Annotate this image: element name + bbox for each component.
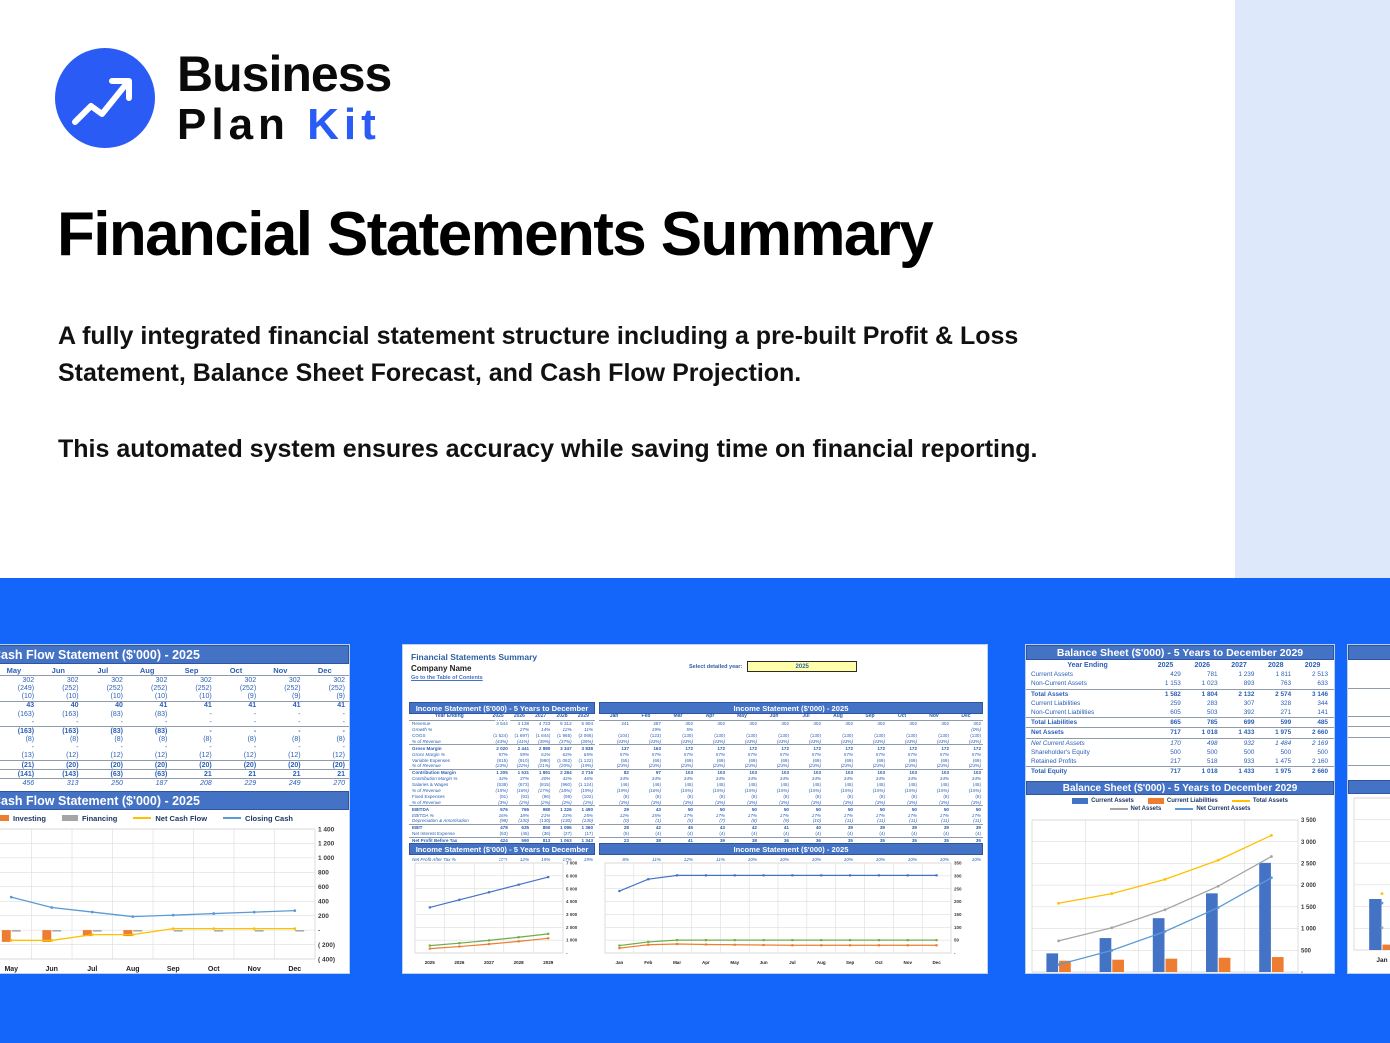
table-cell: - (260, 744, 304, 752)
legend-line-swatch (1110, 808, 1128, 810)
table-cell: (20) (83, 761, 127, 770)
hero-paragraph-2: This automated system ensures accuracy w… (58, 431, 1118, 468)
table-row: Depreciation & Amortisation(98)(130)(130… (409, 818, 595, 824)
table-cell: (83) (83, 710, 127, 718)
legend-item: Net Assets (1110, 806, 1162, 812)
table-cell: (20) (127, 761, 171, 770)
partial-banner-chart (1348, 780, 1390, 794)
table-cell: (21) (0, 761, 38, 770)
table-cell: - (305, 718, 349, 727)
row-label: Non-Current Assets (1026, 679, 1150, 689)
table-cell: 21 (171, 770, 215, 779)
legend-bar-swatch (62, 815, 78, 821)
table-cell: (20) (38, 761, 82, 770)
table-cell: 692 (1348, 707, 1390, 717)
table-cell: 1 433 (1224, 728, 1261, 738)
table-row: Contribution Margin1 2051 5311 8912 2842… (409, 770, 595, 776)
svg-text:350: 350 (954, 861, 962, 866)
table-cell: (63) (127, 770, 171, 779)
table-row: Net Current Assets1704989321 4842 169 (1026, 738, 1334, 748)
svg-text:250: 250 (954, 886, 962, 891)
table-cell: (12) (38, 752, 82, 761)
table-row: 93 (1348, 698, 1390, 707)
svg-text:Oct: Oct (875, 960, 883, 965)
table-cell: 1 153 (1150, 679, 1187, 689)
svg-text:7 000: 7 000 (566, 861, 578, 866)
table-cell: 302 (83, 676, 127, 685)
partial-banner-top (1348, 645, 1390, 660)
table-cell: 456 (0, 779, 38, 788)
svg-text:Jun: Jun (46, 966, 58, 973)
table-cell: - (171, 727, 215, 736)
row-label: Retained Profits (1026, 757, 1150, 767)
svg-text:Feb: Feb (644, 960, 652, 965)
table-row: Current Liabilities259283307328344 (1026, 699, 1334, 708)
table-cell: (12) (83, 752, 127, 761)
table-cell: (10) (0, 693, 38, 702)
income-statement-2025-chart-title: Income Statement ($'000) - 2025 (599, 843, 983, 855)
svg-text:May: May (4, 966, 18, 973)
table-row: Non-Current Assets1 1531 023893763633 (1026, 679, 1334, 689)
table-cell: 1 018 (1187, 728, 1224, 738)
table-cell: 503 (1187, 708, 1224, 718)
row-label: Shareholder's Equity (1026, 748, 1150, 757)
table-cell: 1 023 (1187, 679, 1224, 689)
svg-text:2 500: 2 500 (1301, 862, 1317, 868)
table-cell: 2 132 (1224, 689, 1261, 699)
partial-chart: Jan (1348, 794, 1390, 966)
svg-text:-: - (954, 951, 956, 956)
income-statement-5yr-chart-title: Income Statement ($'000) - 5 Years to De… (409, 843, 595, 855)
table-cell: (8) (305, 736, 349, 744)
table-cell: 500 (1187, 748, 1224, 757)
table-cell: 41 (260, 701, 304, 710)
table-row: Salaries & Wages(538)(673)(815)(960)(1 1… (409, 782, 595, 788)
table-row: % of Revenue(23%)(22%)(21%)(20%)(19%) (409, 763, 595, 769)
table-row: Gross Margin %57%59%61%63%65% (409, 751, 595, 757)
table-cell: 2 660 (1297, 767, 1334, 777)
svg-text:2028: 2028 (514, 960, 525, 965)
table-cell: - (127, 744, 171, 752)
table-cell: 124 (1348, 678, 1390, 688)
svg-text:Nov: Nov (903, 960, 912, 965)
table-header-row: Year Ending20252026202720282029 (1026, 661, 1334, 670)
table-cell: (10) (83, 693, 127, 702)
table-cell: 2 513 (1297, 670, 1334, 679)
table-cell: 313 (38, 779, 82, 788)
svg-text:-: - (566, 951, 568, 956)
svg-text:500: 500 (1301, 949, 1312, 955)
svg-text:1 500: 1 500 (1301, 905, 1317, 911)
svg-text:4 000: 4 000 (566, 899, 578, 904)
column-header: Jun (38, 665, 82, 676)
table-cell: 785 (1187, 718, 1224, 728)
table-cell: (8) (171, 736, 215, 744)
table-cell: 41 (127, 701, 171, 710)
table-cell: 40 (38, 701, 82, 710)
balance-sheet-table-title: Balance Sheet ($'000) - 5 Years to Decem… (1026, 645, 1334, 660)
table-cell: (252) (127, 684, 171, 692)
income-statement-2025-title: Income Statement ($'000) - 2025 (599, 702, 983, 714)
table-cell: - (305, 727, 349, 736)
table-row: % of Revenue(15%)(16%)(17%)(18%)(19%) (409, 788, 595, 794)
table-row: 512 (1348, 727, 1390, 737)
table-cell: 302 (216, 676, 260, 685)
svg-text:Dec: Dec (288, 966, 301, 973)
svg-text:200: 200 (954, 899, 962, 904)
table-cell: 249 (260, 779, 304, 788)
table-row: % of Revenue(43%)(41%)(39%)(37%)(35%) (409, 739, 595, 745)
svg-text:3 000: 3 000 (1301, 840, 1317, 846)
svg-text:Nov: Nov (248, 966, 261, 973)
legend-line-swatch (1232, 800, 1250, 802)
svg-text:Jul: Jul (789, 960, 796, 965)
legend-item: Investing (0, 814, 46, 823)
column-header: 2025 (1150, 661, 1187, 670)
table-cell: (8) (216, 736, 260, 744)
column-header: Jul (83, 665, 127, 676)
balance-sheet-chart-title: Balance Sheet ($'000) - 5 Years to Decem… (1026, 781, 1334, 795)
table-cell: 302 (260, 676, 304, 685)
table-cell: 250 (83, 779, 127, 788)
table-row: Gross Margin2 0202 4412 8803 3473 838 (409, 745, 595, 751)
svg-text:3 000: 3 000 (566, 912, 578, 917)
table-cell: 1 174 (1348, 669, 1390, 678)
table-cell: 500 (1297, 748, 1334, 757)
table-row: Net Interest Expense(53)(45)(36)(27)(17) (409, 831, 595, 837)
screenshot-financial-statements-summary[interactable]: Financial Statements Summary Company Nam… (402, 644, 988, 974)
cash-flow-chart-title: Cash Flow Statement ($'000) - 2025 (0, 791, 349, 810)
table-cell: - (260, 710, 304, 718)
table-cell: 270 (305, 779, 349, 788)
hero-paragraph-1: A fully integrated financial statement s… (58, 318, 1148, 392)
svg-text:Mar: Mar (673, 960, 681, 965)
column-header: Aug (127, 665, 171, 676)
table-cell: (12) (171, 752, 215, 761)
column-header: Sep (171, 665, 215, 676)
table-row: Current Assets4297811 2391 8112 513 (1026, 670, 1334, 679)
svg-text:May: May (730, 960, 739, 965)
table-cell: (252) (83, 684, 127, 692)
svg-text:Aug: Aug (126, 966, 140, 973)
table-row: (13)(12)(12)(12)(12)(12)(12)(12) (0, 752, 349, 761)
table-cell: 485 (1297, 718, 1334, 728)
row-label: Total Liabilities (1026, 718, 1150, 728)
legend-label: Total Assets (1253, 798, 1288, 804)
table-row: 1 297 (1348, 688, 1390, 698)
brand-logo: Business Plan Kit (55, 48, 391, 148)
table-cell: 271 (1260, 708, 1297, 718)
table-row: Fixed Expenses(91)(93)(96)(99)(102) (409, 794, 595, 800)
svg-text:1 400: 1 400 (318, 826, 335, 833)
table-cell: 259 (1150, 699, 1187, 708)
table-cell: 893 (1224, 679, 1261, 689)
svg-text:Aug: Aug (817, 960, 826, 965)
table-of-contents-link[interactable]: Go to the Table of Contents (411, 675, 987, 681)
table-cell: (12) (305, 752, 349, 761)
table-cell: (13) (0, 752, 38, 761)
table-row: Retained Profits2175189331 4752 160 (1026, 757, 1334, 767)
table-cell: (143) (38, 770, 82, 779)
table-cell: 1 804 (1187, 689, 1224, 699)
table-cell: 500 (1260, 748, 1297, 757)
row-label: Net Current Assets (1026, 738, 1150, 748)
svg-text:( 400): ( 400) (318, 956, 335, 963)
table-row: 124 (1348, 678, 1390, 688)
legend-bar-swatch (0, 815, 9, 821)
table-cell: - (0, 744, 38, 752)
column-header: 2029 (1297, 661, 1334, 670)
table-cell: - (171, 744, 215, 752)
svg-text:5 000: 5 000 (566, 886, 578, 891)
legend-item: Net Current Assets (1175, 806, 1250, 812)
svg-text:2025: 2025 (425, 960, 436, 965)
svg-text:Jan: Jan (616, 960, 624, 965)
table-cell: 763 (1260, 679, 1297, 689)
balance-sheet-chart-legend: Current AssetsCurrent LiabilitiesTotal A… (1026, 795, 1334, 816)
table-cell: 1 081 (1348, 737, 1390, 747)
table-cell: 1 239 (1224, 670, 1261, 679)
table-cell: 781 (1187, 670, 1224, 679)
hero-section: Business Plan Kit Financial Statements S… (0, 0, 1390, 578)
table-row: Net Assets7171 0181 4331 9752 660 (1026, 728, 1334, 738)
table-cell: (10) (38, 693, 82, 702)
table-row: 692 (1348, 707, 1390, 717)
table-row: (10)(10)(10)(10)(10)(9)(9)(9) (0, 693, 349, 702)
column-header: Nov (260, 665, 304, 676)
row-label: Total Assets (1026, 689, 1150, 699)
table-cell: 170 (1150, 738, 1187, 748)
table-cell: 217 (1150, 757, 1187, 767)
column-header: Jan (1348, 660, 1390, 669)
svg-text:6 000: 6 000 (566, 873, 578, 878)
table-cell: 2 169 (1297, 738, 1334, 748)
table-cell: - (0, 718, 38, 727)
table-cell: - (305, 744, 349, 752)
svg-text:1 200: 1 200 (318, 840, 335, 847)
table-row: 4340404141414141 (0, 701, 349, 710)
svg-text:1 000: 1 000 (566, 938, 578, 943)
year-picker[interactable]: Select detailed year: 2025 (689, 661, 857, 672)
table-cell: (9) (260, 693, 304, 702)
table-row: (163)(163)(83)(83)---- (0, 727, 349, 736)
legend-label: Net Cash Flow (155, 814, 207, 823)
table-cell: - (216, 710, 260, 718)
table-row: 500 (1348, 747, 1390, 756)
table-cell: - (260, 727, 304, 736)
income-statement-2025-table: JanFebMarAprMayJunJulAugSepOctNovDec2412… (599, 714, 983, 862)
table-cell: - (260, 718, 304, 727)
table-cell: 933 (1224, 757, 1261, 767)
table-row: 786 (1348, 717, 1390, 727)
table-cell: 500 (1150, 748, 1187, 757)
balance-sheet-table: Year Ending20252026202720282029Current A… (1026, 661, 1334, 776)
table-cell: - (38, 718, 82, 727)
screenshot-balance-sheet[interactable]: Balance Sheet ($'000) - 5 Years to Decem… (1025, 644, 1335, 974)
svg-text:Jan: Jan (1376, 957, 1387, 964)
table-header-row: Year Ending20252026202720282029 (409, 714, 595, 720)
table-cell: (10) (171, 693, 215, 702)
table-cell: - (305, 710, 349, 718)
svg-text:150: 150 (954, 912, 962, 917)
table-cell: (12) (216, 752, 260, 761)
table-row: 512 (1348, 766, 1390, 776)
svg-text:-: - (1301, 970, 1303, 974)
table-cell: 605 (1150, 708, 1187, 718)
row-label: Current Liabilities (1026, 699, 1150, 708)
column-header: 2028 (1260, 661, 1297, 670)
table-row: (21)(20)(20)(20)(20)(20)(20)(20) (0, 761, 349, 770)
cash-flow-chart: 1 4001 2001 000800600400200-( 200)( 400)… (0, 825, 349, 974)
table-cell: 518 (1187, 757, 1224, 767)
svg-text:400: 400 (318, 898, 329, 905)
svg-text:1 000: 1 000 (318, 855, 335, 862)
svg-text:50: 50 (954, 938, 960, 943)
table-cell: - (171, 710, 215, 718)
upward-trend-arrow-icon (55, 48, 155, 148)
svg-text:2 000: 2 000 (1301, 883, 1317, 889)
table-cell: (10) (127, 693, 171, 702)
table-cell: 21 (305, 770, 349, 779)
svg-text:-: - (318, 927, 320, 934)
table-cell: 1 297 (1348, 688, 1390, 698)
svg-text:200: 200 (318, 913, 329, 920)
table-cell: 512 (1348, 727, 1390, 737)
brand-word-kit: Kit (307, 100, 381, 149)
table-cell: 41 (216, 701, 260, 710)
table-row: Total Assets1 5821 8042 1322 5743 146 (1026, 689, 1334, 699)
table-cell: 41 (305, 701, 349, 710)
table-cell: 717 (1150, 728, 1187, 738)
table-cell: 392 (1224, 708, 1261, 718)
table-cell: 500 (1224, 748, 1261, 757)
table-cell: 328 (1260, 699, 1297, 708)
table-cell: 1 975 (1260, 767, 1297, 777)
table-row: % of Revenue(3%)(2%)(2%)(2%)(2%) (409, 799, 595, 805)
row-label-header: Year Ending (1026, 661, 1150, 670)
table-cell: (8) (127, 736, 171, 744)
table-row: 1 081 (1348, 737, 1390, 747)
legend-item: Financing (62, 814, 117, 823)
table-cell: 599 (1260, 718, 1297, 728)
table-cell: 187 (127, 779, 171, 788)
table-cell: 344 (1297, 699, 1334, 708)
legend-bar-swatch (1148, 798, 1164, 804)
table-row: (8)(8)(8)(8)(8)(8)(8)(8) (0, 736, 349, 744)
table-row: (249)(252)(252)(252)(252)(252)(252)(252) (0, 684, 349, 692)
table-cell: 41 (171, 701, 215, 710)
table-row: 302302302302302302302302 (0, 676, 349, 685)
table-cell: 283 (1187, 699, 1224, 708)
table-cell: 21 (260, 770, 304, 779)
balance-sheet-chart: 3 5003 0002 5002 0001 5001 000500-202520… (1026, 816, 1334, 974)
brand-word-plan: Plan (177, 100, 290, 149)
legend-label: Closing Cash (245, 814, 293, 823)
table-row: Shareholder's Equity500500500500500 (1026, 748, 1334, 757)
table-cell: 512 (1348, 766, 1390, 776)
legend-label: Net Current Assets (1196, 806, 1250, 812)
table-cell: 2 160 (1297, 757, 1334, 767)
table-cell: 93 (1348, 698, 1390, 707)
legend-item: Closing Cash (223, 814, 293, 823)
legend-item: Current Assets (1072, 798, 1134, 804)
legend-item: Net Cash Flow (133, 814, 207, 823)
svg-text:2027: 2027 (484, 960, 495, 965)
table-cell: (252) (216, 684, 260, 692)
table-cell: (163) (38, 727, 82, 736)
column-header: 2027 (1224, 661, 1261, 670)
screenshot-partial-right[interactable]: Jan1 1741241 297936927865121 08150012512… (1347, 644, 1390, 974)
table-cell: - (38, 744, 82, 752)
table-cell: 932 (1224, 738, 1261, 748)
table-cell: 498 (1187, 738, 1224, 748)
svg-text:800: 800 (318, 869, 329, 876)
svg-text:( 200): ( 200) (318, 941, 335, 948)
table-cell: - (127, 718, 171, 727)
table-cell: 865 (1150, 718, 1187, 728)
table-row: -------- (0, 718, 349, 727)
table-cell: (252) (171, 684, 215, 692)
column-header: Dec (305, 665, 349, 676)
table-cell: 3 146 (1297, 689, 1334, 699)
table-cell: 1 975 (1260, 728, 1297, 738)
table-cell: 40 (83, 701, 127, 710)
screenshot-cash-flow-statement[interactable]: Cash Flow Statement ($'000) - 2025 MayJu… (0, 644, 350, 974)
legend-item: Total Assets (1232, 798, 1288, 804)
table-cell: 302 (38, 676, 82, 685)
svg-text:600: 600 (318, 884, 329, 891)
table-row: Total Equity7171 0181 4331 9752 660 (1026, 767, 1334, 777)
table-header-row: MayJunJulAugSepOctNovDec (0, 665, 349, 676)
table-cell: (8) (83, 736, 127, 744)
table-cell: 717 (1150, 767, 1187, 777)
table-cell: 500 (1348, 747, 1390, 756)
income-statement-5yr-chart: 7 0006 0005 0004 0003 0002 0001 000-2025… (409, 859, 595, 967)
table-cell: (83) (127, 710, 171, 718)
table-cell: 1 018 (1187, 767, 1224, 777)
row-label: Total Equity (1026, 767, 1150, 777)
table-cell: (83) (83, 727, 127, 736)
table-cell: (252) (260, 684, 304, 692)
legend-line-swatch (1175, 808, 1193, 810)
table-cell: (163) (0, 710, 38, 718)
brand-line-business: Business (177, 49, 391, 99)
svg-text:Jul: Jul (87, 966, 97, 973)
legend-label: Current Assets (1091, 798, 1134, 804)
table-cell: 1 582 (1150, 689, 1187, 699)
table-cell: (8) (0, 736, 38, 744)
table-row: 1 174 (1348, 669, 1390, 678)
table-row: -------- (0, 744, 349, 752)
table-cell: (249) (0, 684, 38, 692)
table-cell: (20) (260, 761, 304, 770)
legend-label: Current Liabilities (1167, 798, 1218, 804)
svg-text:3 500: 3 500 (1301, 818, 1317, 824)
table-cell: (141) (0, 770, 38, 779)
svg-text:Jun: Jun (760, 960, 768, 965)
table-cell: (12) (260, 752, 304, 761)
table-cell: 302 (305, 676, 349, 685)
column-header: 2026 (1187, 661, 1224, 670)
table-row: Variable Expenses(815)(910)(990)(1 062)(… (409, 757, 595, 763)
year-picker-input[interactable]: 2025 (747, 661, 857, 672)
table-cell: 229 (216, 779, 260, 788)
income-statement-5yr-table: Year Ending20252026202720282029Revenue3 … (409, 714, 595, 862)
table-cell: 302 (171, 676, 215, 685)
cash-flow-table: MayJunJulAugSepOctNovDec3023023023023023… (0, 665, 349, 788)
row-label: Net Assets (1026, 728, 1150, 738)
table-cell: 12 (1348, 756, 1390, 766)
